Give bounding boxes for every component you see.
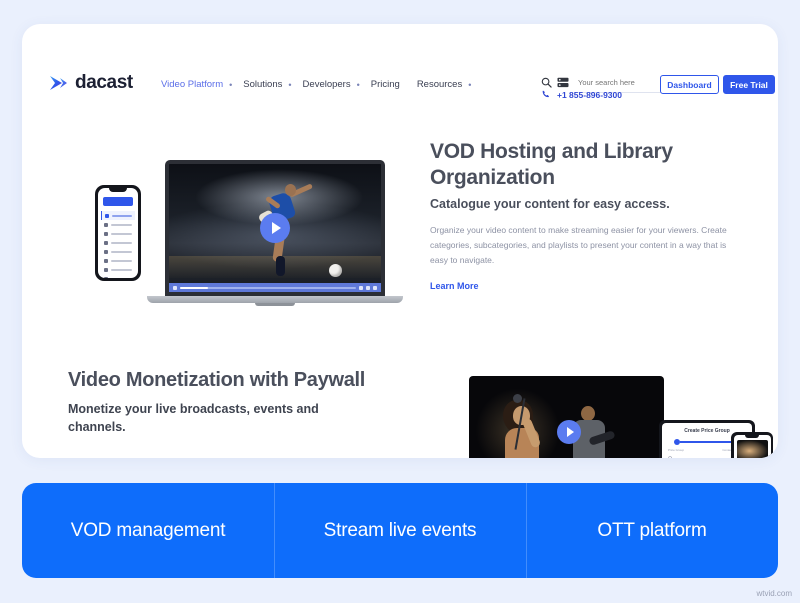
- dacast-play-chevron-icon: [47, 72, 69, 94]
- concert-video-thumbnail: [469, 376, 664, 458]
- microphone-icon: [513, 394, 522, 403]
- phone-menu-item: [101, 238, 135, 247]
- menu-icon: [104, 250, 108, 254]
- banner-tab-vod-management[interactable]: VOD management: [22, 483, 274, 578]
- search-input[interactable]: [578, 78, 668, 87]
- video-library-icon[interactable]: [557, 77, 569, 88]
- banner-tab-ott-platform[interactable]: OTT platform: [526, 483, 778, 578]
- phone-screen: [98, 188, 138, 278]
- soccer-ball-icon: [329, 264, 342, 277]
- step-label-1: Price Group: [668, 448, 684, 452]
- nav-caret-resources[interactable]: •: [466, 80, 478, 90]
- step-connector: [680, 441, 734, 443]
- laptop-foot: [255, 303, 295, 306]
- phone-mockup-dashboard: [95, 185, 141, 281]
- menu-icon: [105, 214, 109, 218]
- menu-icon: [104, 223, 108, 227]
- nav-caret-solutions[interactable]: •: [286, 80, 298, 90]
- nav-caret-developers[interactable]: •: [355, 80, 367, 90]
- menu-icon: [104, 277, 108, 279]
- nav-item-developers[interactable]: Developers: [299, 79, 355, 90]
- paywall-subtitle: Monetize your live broadcasts, events an…: [68, 400, 358, 436]
- laptop-screen: [165, 160, 385, 296]
- phone-icon: [541, 90, 551, 100]
- search-icon[interactable]: [541, 77, 552, 88]
- nav-item-pricing[interactable]: Pricing: [367, 79, 404, 90]
- site-header: dacast Video Platform • Solutions • Deve…: [22, 24, 778, 96]
- brand-name: dacast: [75, 72, 133, 94]
- vod-subtitle: Catalogue your content for easy access.: [430, 197, 750, 211]
- paywall-title: Video Monetization with Paywall: [68, 368, 398, 393]
- phone-notch: [109, 188, 127, 192]
- vod-title: VOD Hosting and Library Organization: [430, 139, 750, 191]
- phone-mockup-player: [731, 432, 773, 458]
- play-button-icon[interactable]: [260, 213, 290, 243]
- vod-text-block: VOD Hosting and Library Organization Cat…: [430, 139, 750, 294]
- paywall-media-mockup: Create Price Group Price Group Content S…: [449, 376, 778, 458]
- phone-contact[interactable]: +1 855-896-9300: [541, 90, 622, 100]
- banner-tab-stream-live-events[interactable]: Stream live events: [274, 483, 526, 578]
- dashboard-button[interactable]: Dashboard: [660, 75, 719, 94]
- video-progress-bar[interactable]: [169, 283, 381, 292]
- feature-banner: VOD management Stream live events OTT pl…: [22, 483, 778, 578]
- menu-icon: [104, 259, 108, 263]
- main-nav: Video Platform • Solutions • Developers …: [157, 79, 478, 90]
- vod-learn-more-link[interactable]: Learn More: [430, 281, 479, 291]
- phone-menu-item: [101, 220, 135, 229]
- watermark: wtvid.com: [756, 589, 792, 598]
- video-scrubber[interactable]: [180, 287, 356, 289]
- singer-illustration: [497, 400, 551, 458]
- phone-menu-item: [101, 256, 135, 265]
- vod-body-text: Organize your video content to make stre…: [430, 223, 738, 268]
- phone-screen: [734, 435, 771, 459]
- search-icon: [668, 456, 673, 458]
- phone-notch: [745, 435, 759, 438]
- vod-media-mockup: [95, 152, 415, 324]
- video-thumbnail: [737, 440, 768, 459]
- paywall-text-block: Video Monetization with Paywall Monetize…: [68, 368, 398, 436]
- phone-menu-item: [101, 247, 135, 256]
- menu-icon: [104, 232, 108, 236]
- phone-number: +1 855-896-9300: [557, 90, 622, 100]
- phone-menu-item: [101, 229, 135, 238]
- free-trial-button[interactable]: Free Trial: [723, 75, 775, 94]
- brand-logo[interactable]: dacast: [47, 72, 133, 94]
- nav-item-resources[interactable]: Resources: [413, 79, 466, 90]
- nav-caret-video-platform[interactable]: •: [227, 80, 239, 90]
- play-button-icon[interactable]: [557, 420, 581, 444]
- menu-icon: [104, 241, 108, 245]
- menu-icon: [104, 268, 108, 272]
- phone-menu-item: [101, 211, 135, 220]
- phone-menu-item: [101, 274, 135, 278]
- laptop-mockup: [165, 160, 385, 306]
- laptop-base: [147, 296, 403, 303]
- content-card: dacast Video Platform • Solutions • Deve…: [22, 24, 778, 458]
- page-root: dacast Video Platform • Solutions • Deve…: [0, 0, 800, 603]
- nav-item-solutions[interactable]: Solutions: [239, 79, 286, 90]
- phone-menu-item: [101, 265, 135, 274]
- phone-primary-button: [103, 197, 133, 206]
- nav-item-video-platform[interactable]: Video Platform: [157, 79, 227, 90]
